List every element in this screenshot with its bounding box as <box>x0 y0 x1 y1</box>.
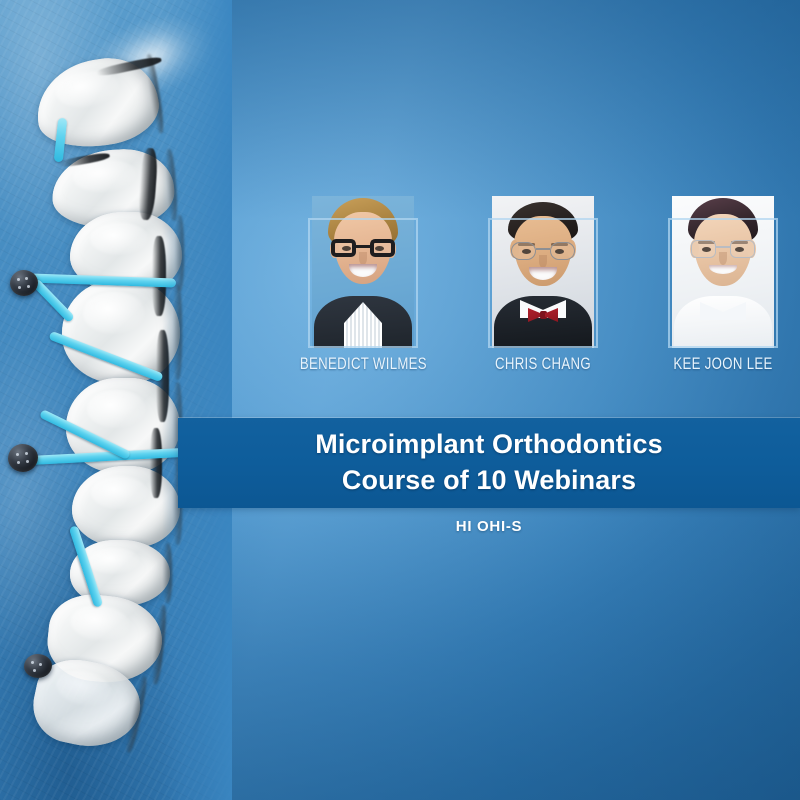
portrait-frame <box>488 218 598 348</box>
aligner-margin <box>150 428 162 498</box>
portrait-chris-chang <box>480 196 606 352</box>
portrait-frame <box>308 218 418 348</box>
clinical-teeth-photo <box>0 0 232 800</box>
portrait-kee-joon-lee <box>660 196 786 352</box>
poster: BENEDICT WILMES <box>0 0 800 800</box>
speaker-name: CHRIS CHANG <box>495 356 591 373</box>
speaker-name: BENEDICT WILMES <box>299 356 426 373</box>
portrait-benedict-wilmes <box>300 196 426 352</box>
portrait-frame <box>668 218 778 348</box>
speaker-card[interactable]: BENEDICT WILMES <box>300 196 426 373</box>
title-line-2: Course of 10 Webinars <box>178 462 800 498</box>
speaker-row: BENEDICT WILMES <box>300 196 786 373</box>
speaker-card[interactable]: KEE JOON LEE <box>660 196 786 373</box>
speaker-card[interactable]: CHRIS CHANG <box>480 196 606 373</box>
subtitle: HI OHI-S <box>178 518 800 535</box>
microimplant-button <box>24 654 52 678</box>
microimplant-button <box>8 444 38 472</box>
title-block: Microimplant Orthodontics Course of 10 W… <box>178 426 800 498</box>
title-line-1: Microimplant Orthodontics <box>178 426 800 462</box>
microimplant-button <box>10 270 38 296</box>
speaker-name: KEE JOON LEE <box>673 356 772 373</box>
photo-edge-fade <box>162 0 232 800</box>
